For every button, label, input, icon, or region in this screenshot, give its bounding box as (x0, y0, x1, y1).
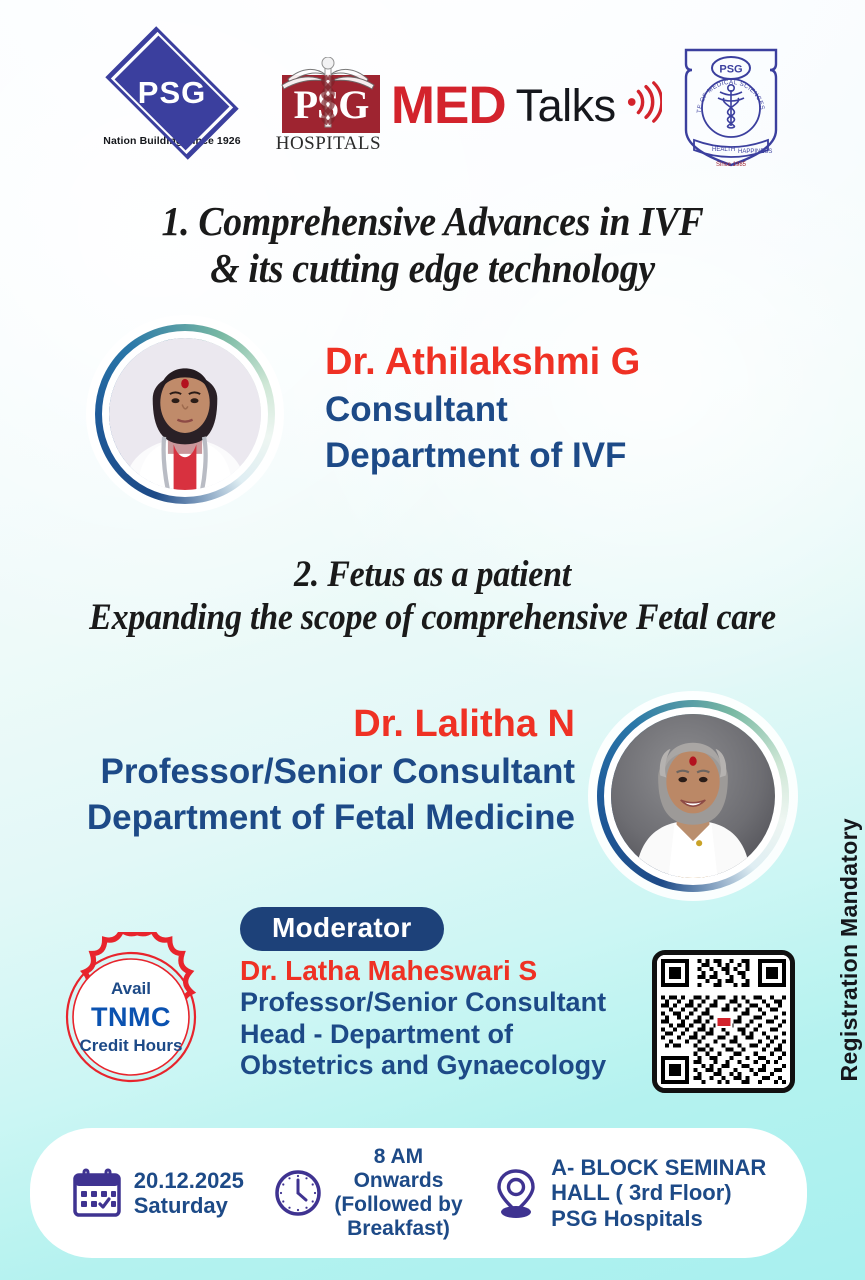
moderator-badge: Moderator (240, 907, 444, 951)
footer-time-line1: 8 AM (334, 1145, 462, 1169)
footer-venue-line2: HALL ( 3rd Floor) (551, 1180, 766, 1205)
psg-group-logo: PSG Nation Building Since 1926 (96, 56, 248, 147)
speaker-2-photo (597, 700, 789, 892)
moderator-info: Dr. Latha Maheswari S Professor/Senior C… (240, 955, 606, 1081)
session-1-title-line1: 1. Comprehensive Advances in IVF (35, 198, 831, 245)
speaker-2-role-line1: Professor/Senior Consultant (87, 749, 575, 795)
portrait-dr-lalitha (611, 714, 775, 878)
footer-time-line3: (Followed by (334, 1193, 462, 1217)
seal-line-hours: Credit Hours (80, 1036, 183, 1056)
psg-logo-text: PSG (96, 75, 248, 111)
clock-icon (273, 1168, 323, 1218)
speaker-1-name: Dr. Athilakshmi G (325, 338, 640, 387)
session-2-title-line1: 2. Fetus as a patient (35, 553, 831, 596)
hospitals-word: HOSPITALS (272, 133, 385, 155)
poster-header: PSG Nation Building Since 1926 PSG (0, 48, 865, 168)
footer-venue-line3: PSG Hospitals (551, 1206, 766, 1231)
sound-waves-icon (626, 81, 662, 123)
speaker-1-photo (95, 324, 275, 504)
psg-imsr-crest-icon: PSG PSG INSTITUTE OF MEDICAL SCIENCES & … (672, 44, 790, 170)
footer-date: 20.12.2025 Saturday (71, 1167, 244, 1219)
qr-center-logo (715, 1016, 732, 1028)
footer-venue-text: A- BLOCK SEMINAR HALL ( 3rd Floor) PSG H… (551, 1155, 766, 1230)
moderator-role-line3: Obstetrics and Gynaecology (240, 1050, 606, 1081)
psg-hospitals-mark: PSG HOSPITALS (272, 53, 385, 157)
svg-text:HAPPINESS: HAPPINESS (738, 149, 772, 155)
session-2-title-line2: Expanding the scope of comprehensive Fet… (35, 596, 831, 639)
footer-details: 20.12.2025 Saturday 8 AM Onwards (Follow (30, 1128, 807, 1258)
footer-time-text: 8 AM Onwards (Followed by Breakfast) (334, 1145, 462, 1241)
tnmc-seal-text: Avail TNMC Credit Hours (46, 932, 216, 1102)
footer-time: 8 AM Onwards (Followed by Breakfast) (273, 1145, 462, 1241)
seal-line-tnmc: TNMC (91, 1002, 171, 1033)
moderator-role-line2: Head - Department of (240, 1019, 606, 1050)
speaker-1-role-line2: Department of IVF (325, 433, 640, 479)
svg-text:Since 1985: Since 1985 (716, 162, 747, 168)
seal-line-avail: Avail (111, 979, 151, 999)
event-poster: PSG Nation Building Since 1926 PSG (0, 0, 865, 1280)
speaker-1-role-line1: Consultant (325, 387, 640, 433)
session-2-title: 2. Fetus as a patient Expanding the scop… (35, 553, 831, 640)
moderator-role-line1: Professor/Senior Consultant (240, 987, 606, 1018)
footer-venue-line1: A- BLOCK SEMINAR (551, 1155, 766, 1180)
med-talks-logo: PSG HOSPITALS MED Talks (272, 46, 662, 164)
calendar-icon (71, 1167, 123, 1219)
speaker-1-info: Dr. Athilakshmi G Consultant Department … (325, 338, 640, 479)
med-word: MED (391, 79, 506, 132)
footer-time-line2: Onwards (334, 1169, 462, 1193)
footer-venue: A- BLOCK SEMINAR HALL ( 3rd Floor) PSG H… (492, 1155, 766, 1230)
speaker-2-role-line2: Department of Fetal Medicine (87, 795, 575, 841)
speaker-2-name: Dr. Lalitha N (87, 700, 575, 749)
psg-diamond-icon: PSG (96, 56, 248, 130)
footer-date-line2: Saturday (134, 1193, 244, 1218)
location-pin-icon (492, 1166, 540, 1220)
footer-date-text: 20.12.2025 Saturday (134, 1168, 244, 1218)
registration-mandatory-label: Registration Mandatory (836, 818, 863, 1081)
svg-text:PSG: PSG (719, 64, 742, 76)
session-1-title: 1. Comprehensive Advances in IVF & its c… (35, 198, 831, 291)
session-1-title-line2: & its cutting edge technology (35, 245, 831, 292)
footer-date-line1: 20.12.2025 (134, 1168, 244, 1193)
svg-text:HEALTH: HEALTH (712, 147, 735, 153)
caduceus-icon (280, 57, 376, 135)
talks-word: Talks (516, 83, 616, 128)
speaker-2-info: Dr. Lalitha N Professor/Senior Consultan… (87, 700, 575, 841)
registration-qr-code[interactable] (652, 950, 795, 1093)
moderator-name: Dr. Latha Maheswari S (240, 955, 606, 987)
portrait-dr-athilakshmi (109, 338, 261, 490)
tnmc-credit-seal: Avail TNMC Credit Hours (46, 932, 216, 1102)
footer-time-line4: Breakfast) (334, 1217, 462, 1241)
